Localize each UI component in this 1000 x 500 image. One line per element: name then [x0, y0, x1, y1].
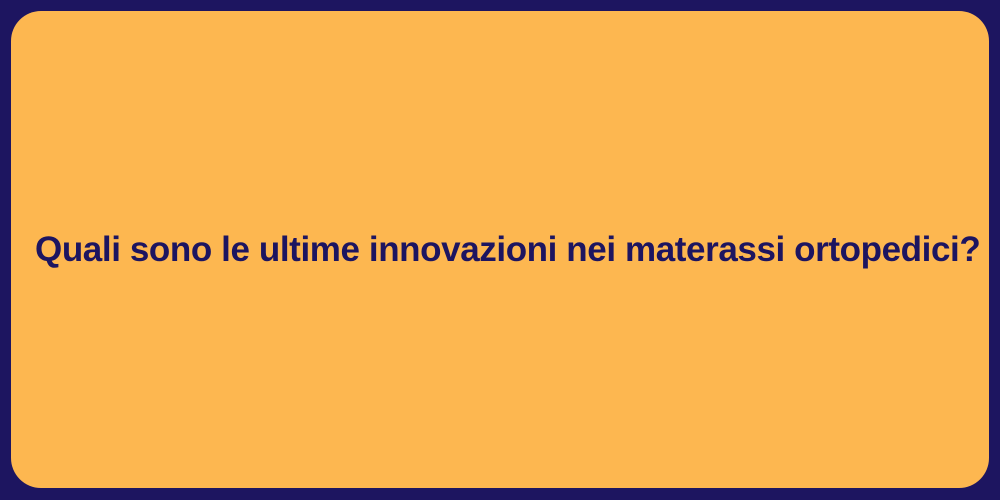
banner-card: Quali sono le ultime innovazioni nei mat…	[11, 11, 989, 488]
page-title: Quali sono le ultime innovazioni nei mat…	[11, 228, 989, 272]
banner-outer-frame: Quali sono le ultime innovazioni nei mat…	[0, 0, 1000, 500]
